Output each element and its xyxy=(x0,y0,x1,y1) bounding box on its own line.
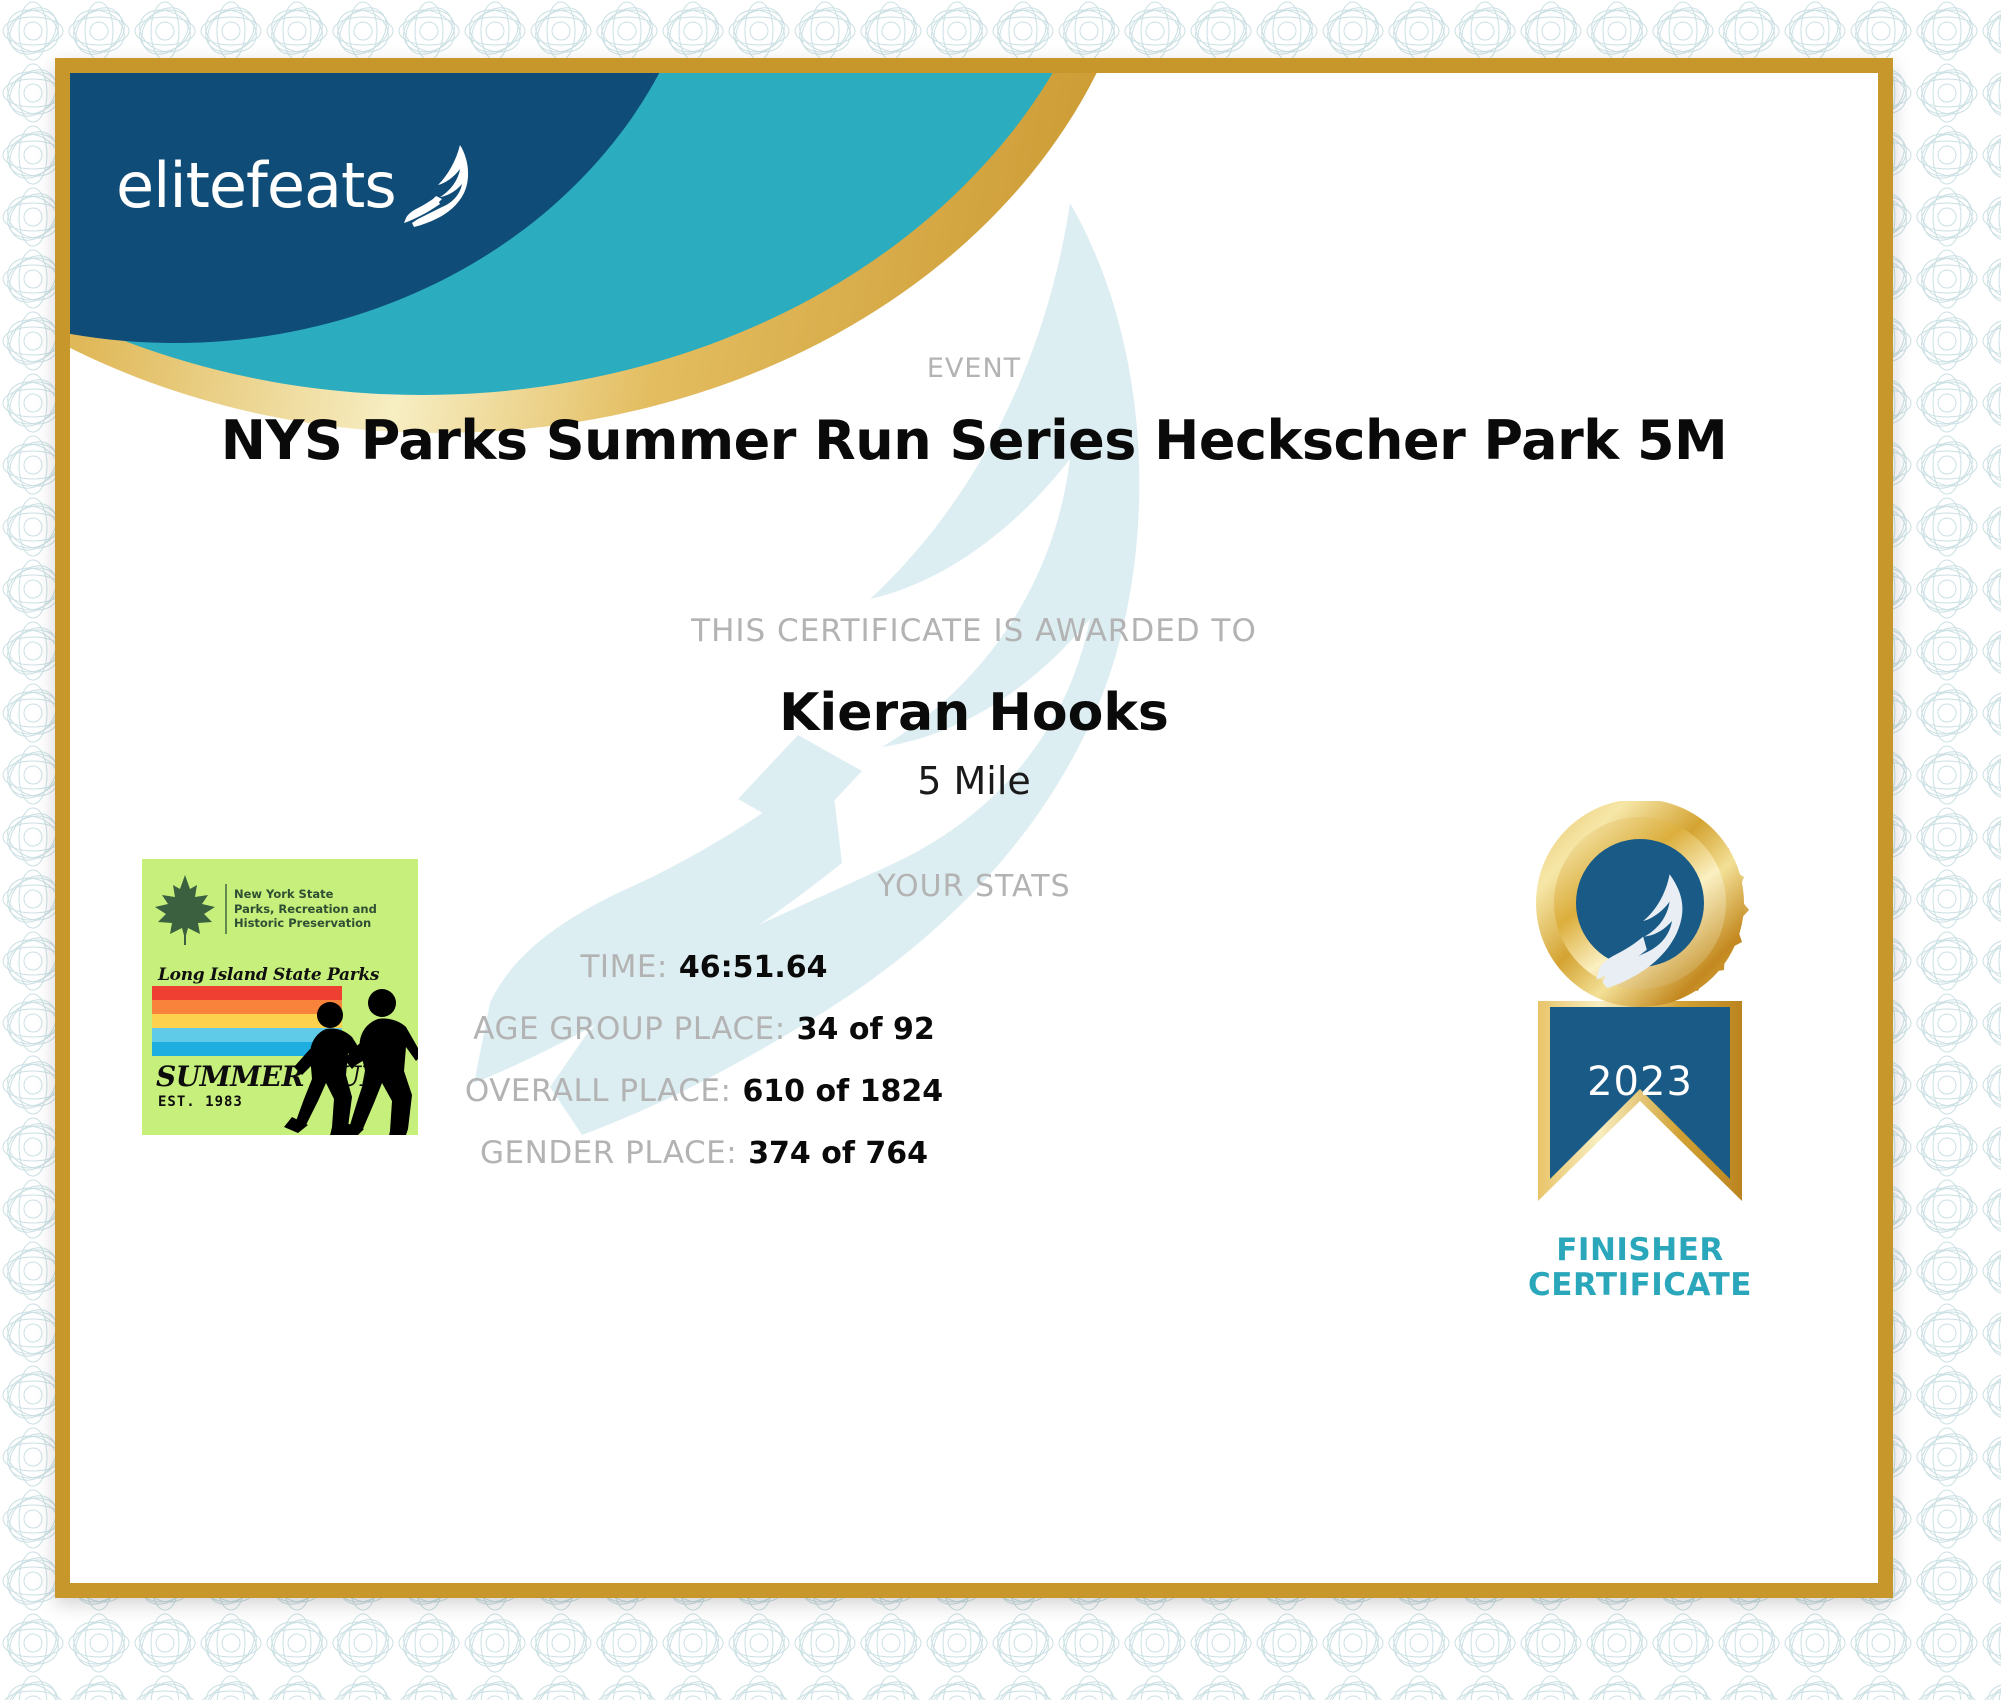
stat-value: 46:51.64 xyxy=(679,950,828,985)
sponsor-series-title: Long Island State Parks xyxy=(158,965,408,985)
sponsor-divider xyxy=(225,884,227,934)
stat-key: AGE GROUP PLACE: xyxy=(473,1011,785,1047)
stat-value: 374 of 764 xyxy=(748,1136,928,1171)
race-distance: 5 Mile xyxy=(70,759,1878,803)
certificate-frame: elitefeats EVENT xyxy=(55,58,1893,1598)
badge-caption-line-2: CERTIFICATE xyxy=(1462,1268,1818,1303)
agency-line-1: New York State xyxy=(234,887,377,902)
sponsor-logo: New York State Parks, Recreation and His… xyxy=(142,859,418,1135)
maple-leaf-icon xyxy=(152,873,218,945)
event-label: EVENT xyxy=(70,353,1878,384)
stat-value: 34 of 92 xyxy=(797,1012,935,1047)
runners-icon xyxy=(282,987,418,1135)
sponsor-agency-text: New York State Parks, Recreation and His… xyxy=(234,887,377,931)
badge-year: 2023 xyxy=(1587,1059,1693,1105)
event-title: NYS Parks Summer Run Series Heckscher Pa… xyxy=(150,409,1798,472)
brand-logo: elitefeats xyxy=(116,141,478,231)
brand-name: elitefeats xyxy=(116,155,396,217)
awarded-to-label: THIS CERTIFICATE IS AWARDED TO xyxy=(70,613,1878,649)
sponsor-series-block: Long Island State Parks SUMMER RUN EST. … xyxy=(142,965,418,1110)
winged-foot-icon xyxy=(400,141,478,231)
gold-medal-rosette-icon: 2023 xyxy=(1480,801,1800,1281)
certificate-page: elitefeats EVENT xyxy=(0,0,2001,1700)
stat-value: 610 of 1824 xyxy=(742,1074,943,1109)
recipient-name: Kieran Hooks xyxy=(70,683,1878,743)
badge-caption-line-1: FINISHER xyxy=(1462,1233,1818,1268)
certificate-body: elitefeats EVENT xyxy=(70,73,1878,1583)
stat-key: GENDER PLACE: xyxy=(480,1135,737,1171)
agency-line-3: Historic Preservation xyxy=(234,916,377,931)
medal-rosette xyxy=(1536,801,1749,1007)
stat-key: TIME: xyxy=(581,949,668,985)
medal-ribbon: 2023 xyxy=(1538,1001,1742,1201)
sponsor-agency-block: New York State Parks, Recreation and His… xyxy=(142,859,418,945)
badge-caption: FINISHER CERTIFICATE xyxy=(1462,1233,1818,1304)
certificate-content: EVENT NYS Parks Summer Run Series Hecksc… xyxy=(70,73,1878,1583)
stat-key: OVERALL PLACE: xyxy=(465,1073,732,1109)
agency-line-2: Parks, Recreation and xyxy=(234,902,377,917)
